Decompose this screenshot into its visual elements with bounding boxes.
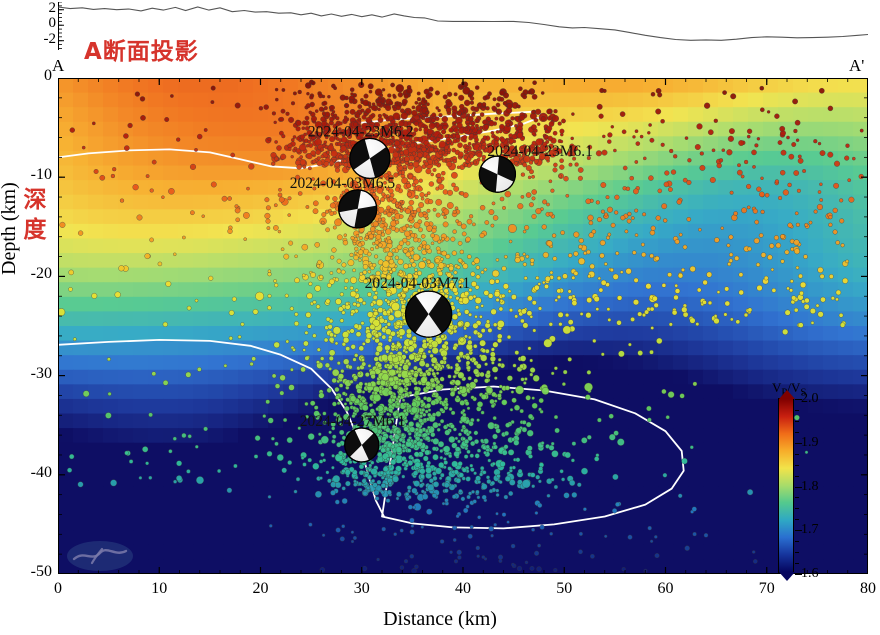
xtick-8: 80	[848, 580, 880, 598]
xtick-3: 30	[342, 580, 382, 598]
section-title: A断面投影	[84, 32, 199, 66]
colorbar-tick-label-4: 1.6	[801, 566, 819, 582]
colorbar-min-arrow	[779, 572, 795, 581]
colorbar-minor-tick	[795, 530, 799, 531]
ytick-5: -50	[0, 563, 52, 581]
ytick-0: 0	[0, 67, 52, 85]
profile-ytick-1: 0	[32, 15, 56, 32]
event-label-4: 2024-04-03M7.1	[365, 275, 470, 292]
vpvs-colorbar: 2.01.91.81.71.6	[778, 398, 794, 573]
profile-ytick-2: -2	[32, 31, 56, 48]
xtick-6: 60	[646, 580, 686, 598]
xtick-7: 70	[747, 580, 787, 598]
profile-y-axis	[59, 2, 65, 50]
ytick-4: -40	[0, 464, 52, 482]
colorbar-max-arrow	[779, 390, 795, 399]
colorbar-minor-tick	[795, 465, 799, 466]
x-axis-title: Distance (km)	[0, 608, 880, 631]
colorbar-minor-tick	[795, 541, 799, 542]
event-label-3: 2024-04-03M6.5	[290, 175, 396, 192]
profile-end-label-a-prime: A'	[849, 56, 864, 76]
event-label-2: 2024-04-23M6.1	[487, 143, 592, 160]
event-label-5: 2024-04-27M6.1	[300, 413, 405, 430]
colorbar-minor-tick	[795, 454, 799, 455]
colorbar-tick-label-1: 1.9	[801, 435, 819, 451]
colorbar-tick-label-2: 1.8	[801, 479, 819, 495]
xtick-0: 0	[38, 580, 78, 598]
y-axis-title: Depth (km)	[0, 182, 21, 275]
xtick-5: 50	[544, 580, 584, 598]
depth-label-cn: 深 度	[22, 185, 48, 245]
profile-end-label-a: A	[52, 56, 64, 76]
colorbar-tick-label-0: 2.0	[801, 391, 819, 407]
colorbar-minor-tick	[795, 476, 799, 477]
colorbar-minor-tick	[795, 563, 799, 564]
colorbar-minor-tick	[795, 443, 799, 444]
colorbar-minor-tick	[795, 421, 799, 422]
xtick-4: 40	[443, 580, 483, 598]
ytick-3: -30	[0, 365, 52, 383]
colorbar-minor-tick	[795, 508, 799, 509]
colorbar-minor-tick	[795, 399, 799, 400]
colorbar-minor-tick	[795, 497, 799, 498]
colorbar-minor-tick	[795, 432, 799, 433]
figure-canvas: A断面投影 深 度 A A' 2024-04-23M6.22024-04-23M…	[0, 0, 880, 635]
colorbar-minor-tick	[795, 410, 799, 411]
colorbar-tick-label-3: 1.7	[801, 522, 819, 538]
cross-section-panel: 2024-04-23M6.22024-04-23M6.12024-04-03M6…	[58, 78, 868, 574]
xtick-2: 20	[241, 580, 281, 598]
colorbar-minor-tick	[795, 487, 799, 488]
colorbar-minor-tick	[795, 552, 799, 553]
logo-watermark	[66, 539, 134, 573]
xtick-1: 10	[139, 580, 179, 598]
cross-section-svg: 2024-04-23M6.22024-04-23M6.12024-04-03M6…	[58, 78, 868, 574]
colorbar-minor-tick	[795, 519, 799, 520]
event-label-1: 2024-04-23M6.2	[308, 123, 413, 140]
beachball-4	[406, 291, 452, 337]
